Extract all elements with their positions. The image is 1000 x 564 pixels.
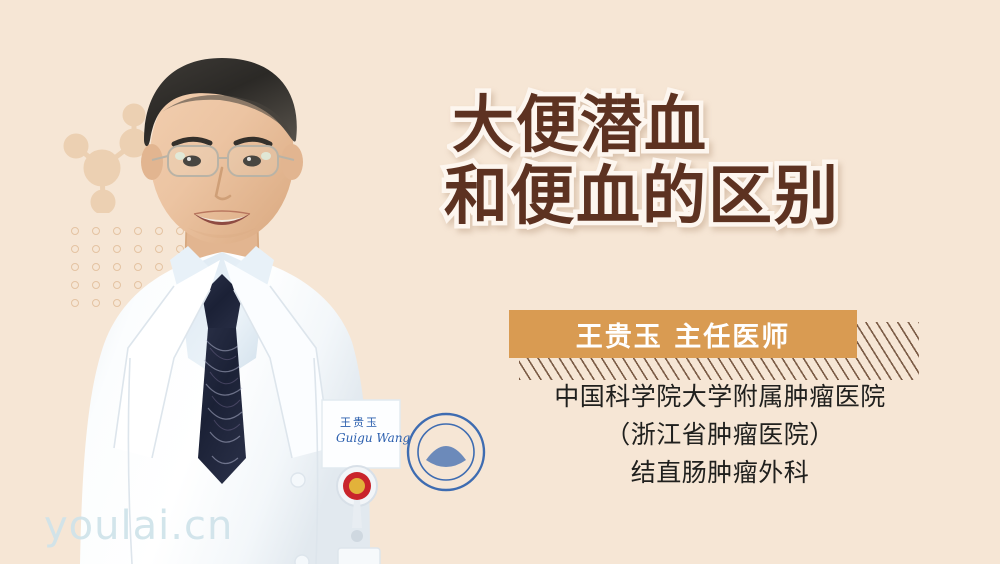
svg-text:Guigu Wang: Guigu Wang xyxy=(336,431,411,445)
affiliation-line-2: （浙江省肿瘤医院） xyxy=(480,416,960,454)
title-line-1: 大便潜血 xyxy=(452,92,972,158)
affiliation-block: 中国科学院大学附属肿瘤医院 （浙江省肿瘤医院） 结直肠肿瘤外科 xyxy=(480,378,960,492)
watermark-youlai: youlai.cn xyxy=(44,503,233,549)
doctor-portrait: 王贵玉 Guigu Wang xyxy=(70,28,490,564)
presenter-name-label: 王贵玉 主任医师 xyxy=(576,315,790,354)
title-line-2: 和便血的区别 xyxy=(444,164,972,232)
svg-text:王贵玉: 王贵玉 xyxy=(340,416,379,429)
presenter-banner: 王贵玉 主任医师 xyxy=(509,310,889,370)
affiliation-line-3: 结直肠肿瘤外科 xyxy=(480,454,960,492)
affiliation-line-1: 中国科学院大学附属肿瘤医院 xyxy=(480,378,960,416)
page-title: 大便潜血 和便血的区别 xyxy=(452,92,972,232)
video-thumbnail-card: 王贵玉 Guigu Wang xyxy=(0,0,1000,564)
presenter-name-bar: 王贵玉 主任医师 xyxy=(509,310,857,358)
